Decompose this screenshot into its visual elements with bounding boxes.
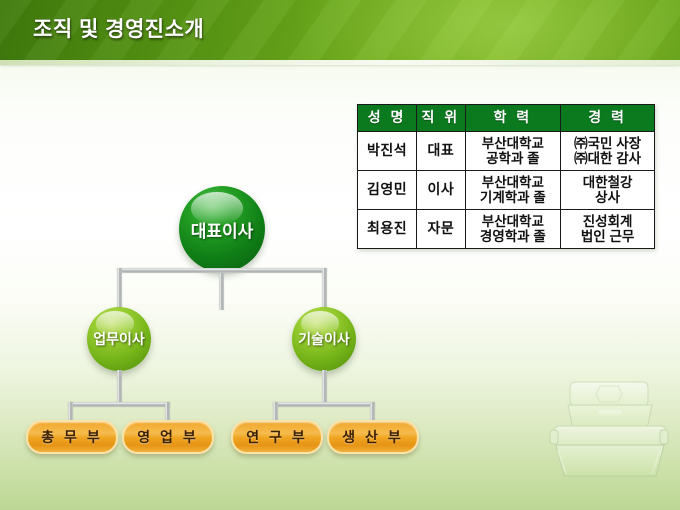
cell-career-1-line1: ㈜국민 사장 bbox=[574, 136, 641, 151]
cell-career-1-line2: ㈜대한 감사 bbox=[574, 151, 641, 166]
table-row: 최용진 자문 부산대학교 경영학과 졸 진성회계 법인 근무 bbox=[358, 210, 655, 249]
cell-position-3: 자문 bbox=[417, 210, 465, 249]
cell-career-3-line2: 법인 근무 bbox=[581, 229, 634, 244]
cell-education-2-line1: 부산대학교 bbox=[482, 175, 544, 190]
product-watermark-image bbox=[548, 360, 670, 480]
cell-education-2-line2: 기계학과 졸 bbox=[480, 190, 546, 205]
cell-name-2: 김영민 bbox=[358, 170, 417, 209]
cell-career-2-line1: 대한철강 bbox=[583, 175, 633, 190]
table-header-position: 직 위 bbox=[417, 105, 465, 132]
table-header-row: 성 명 직 위 학 력 경 력 bbox=[358, 105, 655, 132]
cell-career-1: ㈜국민 사장 ㈜대한 감사 bbox=[561, 131, 655, 170]
cell-name-3: 최용진 bbox=[358, 210, 417, 249]
connector-drop-director-1 bbox=[117, 268, 122, 310]
slide-header: 조직 및 경영진소개 bbox=[0, 0, 680, 60]
cell-education-1: 부산대학교 공학과 졸 bbox=[465, 131, 561, 170]
cell-education-3: 부산대학교 경영학과 졸 bbox=[465, 210, 561, 249]
org-node-director-2[interactable]: 기술이사 bbox=[292, 307, 356, 371]
org-node-dept-1-label: 총 무 부 bbox=[41, 427, 102, 447]
executives-table: 성 명 직 위 학 력 경 력 박진석 대표 부산대학교 공학과 졸 ㈜국민 사… bbox=[357, 104, 655, 249]
cell-name-1: 박진석 bbox=[358, 131, 417, 170]
cell-career-2-line2: 상사 bbox=[595, 190, 620, 205]
org-node-director-2-label: 기술이사 bbox=[298, 329, 350, 349]
connector-director-2-stem bbox=[322, 370, 327, 406]
cell-career-3-line1: 진성회계 bbox=[583, 214, 633, 229]
header-glow bbox=[290, 0, 680, 60]
slide-canvas: 조직 및 경영진소개 bbox=[0, 0, 680, 510]
table-row: 김영민 이사 부산대학교 기계학과 졸 대한철강 상사 bbox=[358, 170, 655, 209]
org-node-dept-1[interactable]: 총 무 부 bbox=[26, 420, 118, 454]
org-node-dept-4-label: 생 산 부 bbox=[342, 427, 403, 447]
org-node-dept-2-label: 영 업 부 bbox=[137, 427, 198, 447]
cell-education-3-line1: 부산대학교 bbox=[482, 214, 544, 229]
cell-career-3: 진성회계 법인 근무 bbox=[561, 210, 655, 249]
org-node-dept-2[interactable]: 영 업 부 bbox=[122, 420, 214, 454]
org-node-director-1-label: 업무이사 bbox=[93, 329, 145, 349]
org-node-ceo-label: 대표이사 bbox=[191, 217, 254, 242]
connector-dept-bus-2 bbox=[273, 402, 375, 407]
table-row: 박진석 대표 부산대학교 공학과 졸 ㈜국민 사장 ㈜대한 감사 bbox=[358, 131, 655, 170]
cell-career-2: 대한철강 상사 bbox=[561, 170, 655, 209]
connector-director-1-stem bbox=[117, 370, 122, 406]
cell-position-1: 대표 bbox=[417, 131, 465, 170]
table-header-name: 성 명 bbox=[358, 105, 417, 132]
connector-dept-bus-1 bbox=[68, 402, 170, 407]
connector-director-bus bbox=[117, 268, 327, 273]
table-header-education: 학 력 bbox=[465, 105, 561, 132]
table-header-career: 경 력 bbox=[561, 105, 655, 132]
cell-education-1-line1: 부산대학교 bbox=[482, 136, 544, 151]
connector-ceo-stem bbox=[219, 272, 224, 310]
org-node-dept-4[interactable]: 생 산 부 bbox=[327, 420, 419, 454]
org-node-director-1[interactable]: 업무이사 bbox=[87, 307, 151, 371]
org-node-dept-3-label: 연 구 부 bbox=[246, 427, 307, 447]
cell-education-1-line2: 공학과 졸 bbox=[486, 151, 539, 166]
cell-education-2: 부산대학교 기계학과 졸 bbox=[465, 170, 561, 209]
org-node-dept-3[interactable]: 연 구 부 bbox=[231, 420, 323, 454]
page-title: 조직 및 경영진소개 bbox=[33, 13, 204, 43]
org-node-ceo[interactable]: 대표이사 bbox=[179, 186, 265, 272]
connector-drop-director-2 bbox=[322, 268, 327, 310]
cell-education-3-line2: 경영학과 졸 bbox=[480, 229, 546, 244]
cell-position-2: 이사 bbox=[417, 170, 465, 209]
